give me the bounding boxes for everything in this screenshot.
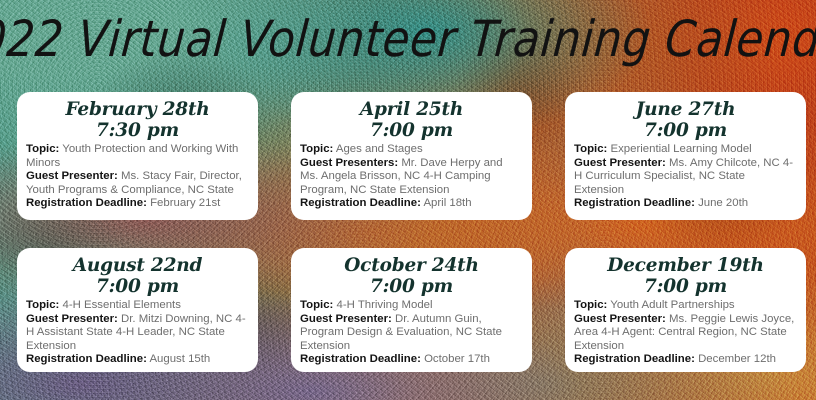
deadline-label: Registration Deadline: (26, 197, 147, 209)
session-details: Topic: 4-H Essential Elements Guest Pres… (26, 299, 249, 367)
deadline-value: October 17th (424, 353, 490, 365)
session-topic-line: Topic: Experiential Learning Model (574, 143, 797, 157)
session-date: February 28th (26, 99, 249, 120)
topic-label: Topic: (574, 299, 607, 311)
deadline-value: April 18th (423, 197, 471, 209)
session-topic-line: Topic: Youth Adult Partnerships (574, 299, 797, 313)
deadline-label: Registration Deadline: (574, 353, 695, 365)
session-topic-line: Topic: 4-H Essential Elements (26, 299, 249, 313)
topic-value: Ages and Stages (336, 143, 423, 155)
session-topic-line: Topic: Ages and Stages (300, 143, 523, 157)
topic-label: Topic: (26, 299, 59, 311)
session-deadline-line: Registration Deadline: October 17th (300, 353, 523, 367)
session-presenter-line: Guest Presenter: Ms. Stacy Fair, Directo… (26, 170, 249, 197)
deadline-label: Registration Deadline: (300, 353, 421, 365)
presenter-label: Guest Presenter: (574, 157, 666, 169)
topic-value: 4-H Essential Elements (63, 299, 181, 311)
presenter-label: Guest Presenter: (26, 313, 118, 325)
session-details: Topic: Experiential Learning Model Guest… (574, 143, 797, 211)
deadline-value: June 20th (698, 197, 748, 209)
session-presenter-line: Guest Presenter: Dr. Mitzi Downing, NC 4… (26, 313, 249, 354)
session-details: Topic: Ages and Stages Guest Presenters:… (300, 143, 523, 211)
session-card-april: April 25th 7:00 pm Topic: Ages and Stage… (291, 92, 532, 220)
topic-value: Experiential Learning Model (611, 143, 752, 155)
session-time: 7:30 pm (26, 120, 249, 142)
session-deadline-line: Registration Deadline: June 20th (574, 197, 797, 211)
session-date: June 27th (574, 99, 797, 120)
session-deadline-line: Registration Deadline: February 21st (26, 197, 249, 211)
session-details: Topic: Youth Adult Partnerships Guest Pr… (574, 299, 797, 367)
page-title: 2022 Virtual Volunteer Training Calendar (0, 15, 816, 65)
session-topic-line: Topic: Youth Protection and Working With… (26, 143, 249, 170)
topic-value: Youth Adult Partnerships (610, 299, 734, 311)
session-card-february: February 28th 7:30 pm Topic: Youth Prote… (17, 92, 258, 220)
session-date: October 24th (300, 255, 523, 276)
session-presenter-line: Guest Presenter: Dr. Autumn Guin, Progra… (300, 313, 523, 354)
presenter-label: Guest Presenter: (26, 170, 118, 182)
session-presenter-line: Guest Presenters: Mr. Dave Herpy and Ms.… (300, 157, 523, 198)
session-presenter-line: Guest Presenter: Ms. Amy Chilcote, NC 4-… (574, 157, 797, 198)
topic-label: Topic: (574, 143, 607, 155)
session-card-grid: February 28th 7:30 pm Topic: Youth Prote… (17, 92, 806, 372)
session-date: August 22nd (26, 255, 249, 276)
session-card-december: December 19th 7:00 pm Topic: Youth Adult… (565, 248, 806, 372)
deadline-value: February 21st (150, 197, 220, 209)
session-card-october: October 24th 7:00 pm Topic: 4-H Thriving… (291, 248, 532, 372)
session-deadline-line: Registration Deadline: August 15th (26, 353, 249, 367)
session-presenter-line: Guest Presenter: Ms. Peggie Lewis Joyce,… (574, 313, 797, 354)
deadline-value: December 12th (698, 353, 776, 365)
session-time: 7:00 pm (300, 276, 523, 298)
session-date: April 25th (300, 99, 523, 120)
topic-label: Topic: (300, 143, 333, 155)
session-topic-line: Topic: 4-H Thriving Model (300, 299, 523, 313)
topic-value: 4-H Thriving Model (337, 299, 433, 311)
session-details: Topic: Youth Protection and Working With… (26, 143, 249, 211)
session-date: December 19th (574, 255, 797, 276)
session-card-june: June 27th 7:00 pm Topic: Experiential Le… (565, 92, 806, 220)
deadline-label: Registration Deadline: (300, 197, 421, 209)
session-time: 7:00 pm (300, 120, 523, 142)
session-time: 7:00 pm (574, 276, 797, 298)
session-time: 7:00 pm (26, 276, 249, 298)
session-time: 7:00 pm (574, 120, 797, 142)
session-details: Topic: 4-H Thriving Model Guest Presente… (300, 299, 523, 367)
session-deadline-line: Registration Deadline: December 12th (574, 353, 797, 367)
training-calendar-poster: 2022 Virtual Volunteer Training Calendar… (0, 0, 816, 400)
presenter-label: Guest Presenter: (300, 313, 392, 325)
session-card-august: August 22nd 7:00 pm Topic: 4-H Essential… (17, 248, 258, 372)
session-deadline-line: Registration Deadline: April 18th (300, 197, 523, 211)
presenter-label: Guest Presenter: (574, 313, 666, 325)
topic-label: Topic: (300, 299, 333, 311)
deadline-value: August 15th (149, 353, 210, 365)
topic-label: Topic: (26, 143, 59, 155)
deadline-label: Registration Deadline: (574, 197, 695, 209)
deadline-label: Registration Deadline: (26, 353, 147, 365)
poster-title-band: 2022 Virtual Volunteer Training Calendar (0, 0, 816, 80)
presenter-label: Guest Presenters: (300, 157, 398, 169)
